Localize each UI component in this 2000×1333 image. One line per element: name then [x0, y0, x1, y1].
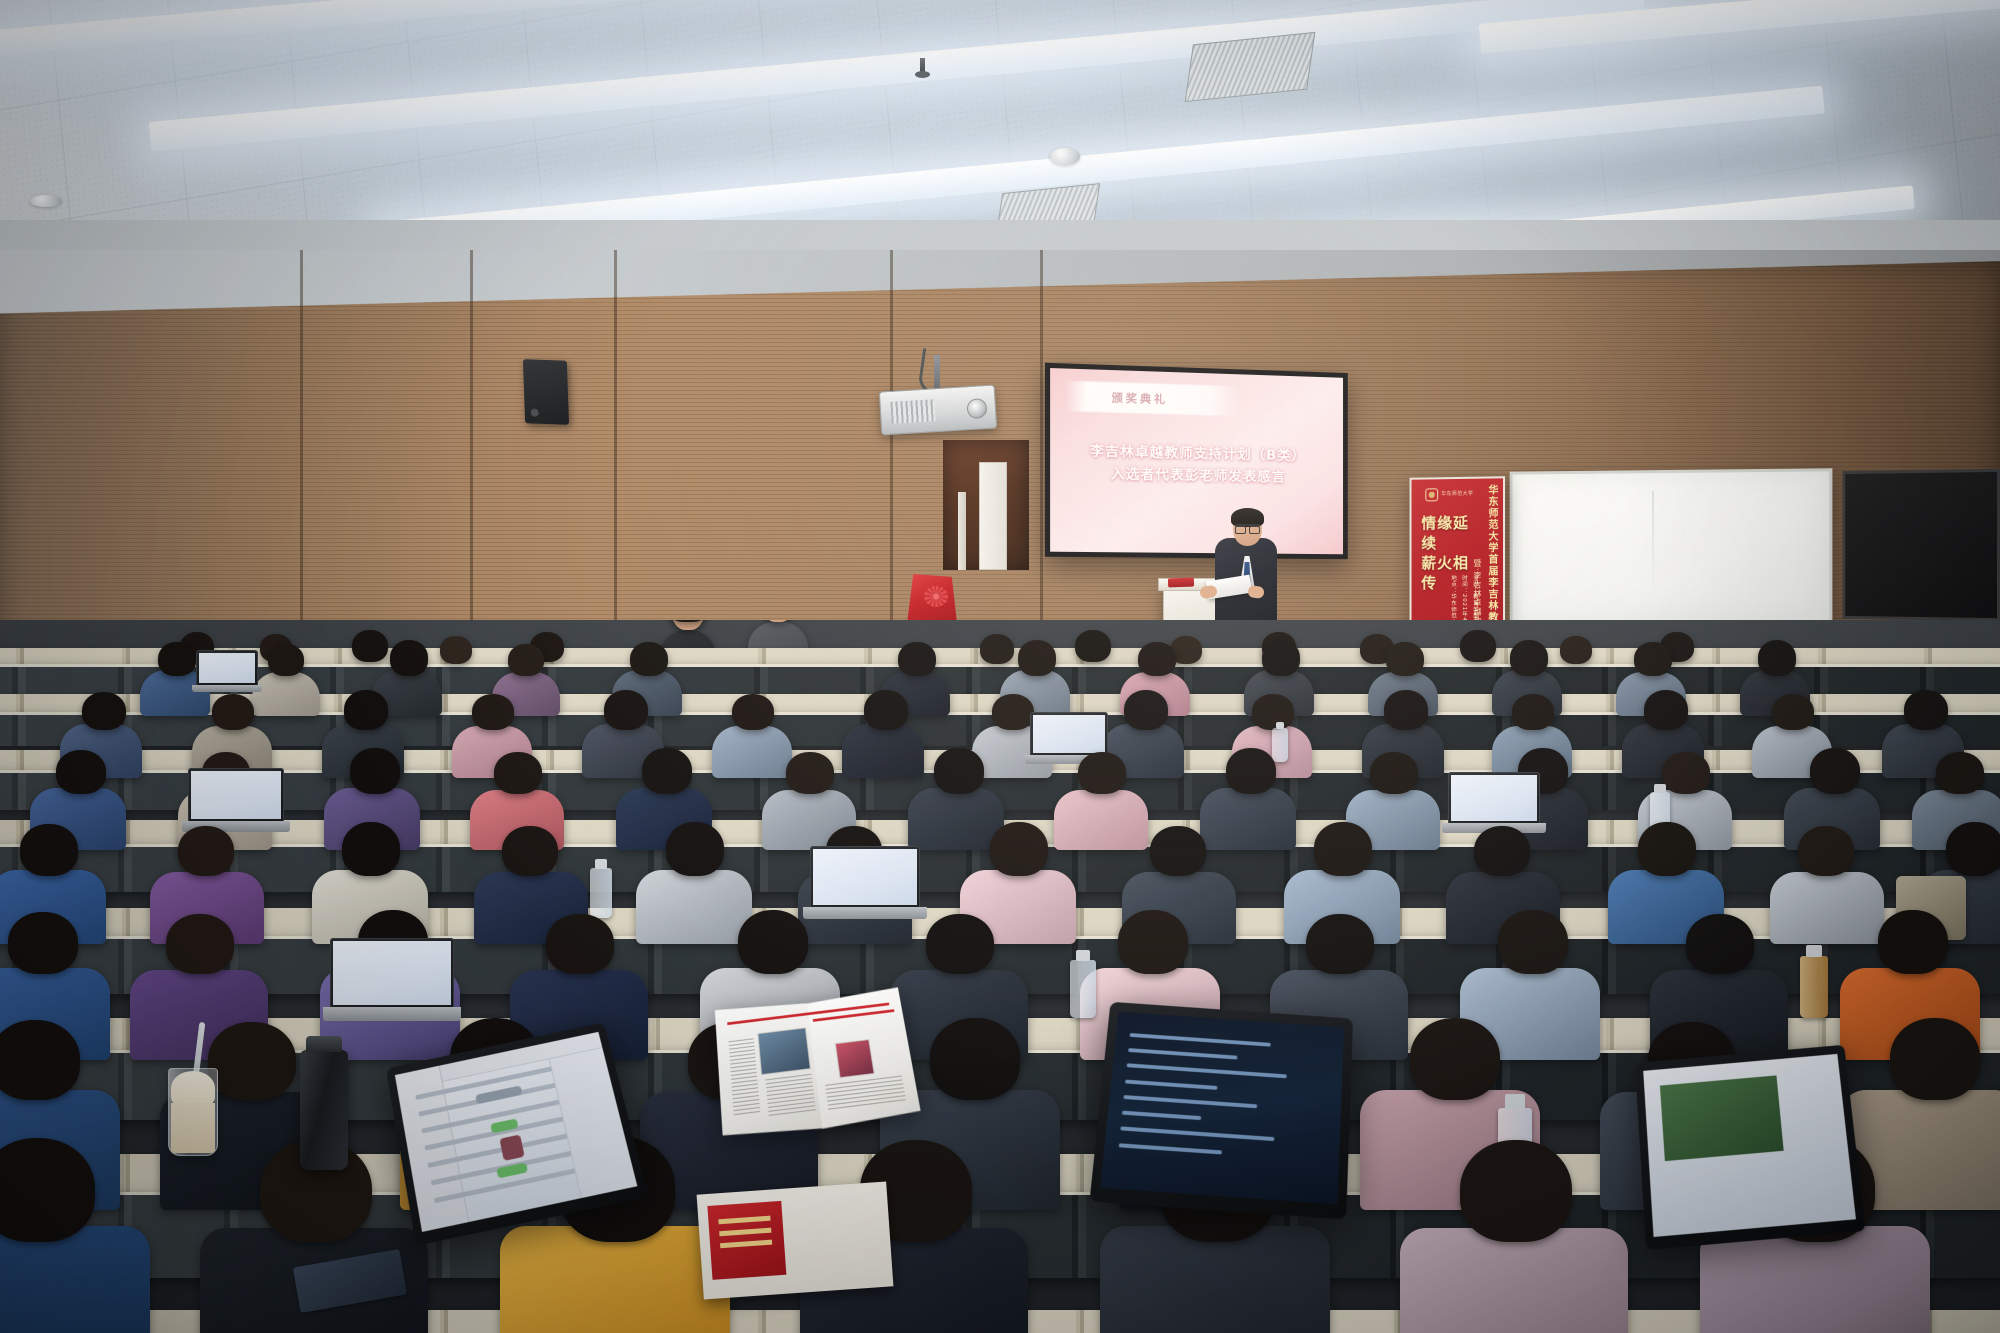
audience-torso: [842, 724, 924, 778]
audience-head: [1386, 642, 1424, 676]
audience-head: [926, 914, 994, 974]
audience-head: [1560, 636, 1592, 664]
lecture-hall-photo: 颁奖典礼 李吉林卓越教师支持计划（B类） 入选者代表彭老师发表感言 华东师范大学…: [0, 0, 2000, 1333]
tea-bottle: [1800, 956, 1828, 1018]
ceiling-downlight: [30, 195, 62, 207]
audience-head: [1638, 822, 1696, 876]
audience-torso: [0, 1226, 150, 1333]
audience-head: [1772, 694, 1814, 730]
red-covered-brochure: [697, 1182, 894, 1300]
booklet-photo: [758, 1027, 811, 1075]
audience-head: [1138, 642, 1176, 676]
slide-title: 李吉林卓越教师支持计划（B类） 入选者代表彭老师发表感言: [1050, 439, 1343, 489]
laptop-screen[interactable]: [1100, 1012, 1344, 1205]
audience-torso: [500, 1226, 730, 1333]
audience-head: [8, 912, 78, 974]
audience-head: [1460, 1140, 1572, 1242]
audience-head: [342, 822, 400, 876]
audience-head: [1634, 642, 1672, 676]
audience-head: [1644, 690, 1688, 730]
audience-head: [212, 694, 254, 730]
audience-head: [494, 752, 542, 794]
audience-head: [898, 642, 936, 676]
booklet-photo: [835, 1039, 875, 1078]
audience-torso: [1770, 872, 1884, 944]
laptop-screen[interactable]: [1643, 1054, 1856, 1237]
audience-head: [1410, 1018, 1500, 1100]
whiteboard: [1510, 468, 1833, 626]
audience-head: [1498, 910, 1568, 974]
audience-head: [208, 1022, 296, 1100]
audience-head: [158, 642, 196, 676]
audience-head: [344, 690, 388, 730]
projector-lens-icon: [966, 398, 987, 419]
audience-head: [1226, 748, 1276, 794]
audience-head: [20, 824, 78, 876]
audience-torso: [1054, 790, 1148, 850]
milk-tea-foam: [171, 1071, 215, 1105]
audience-head: [1384, 690, 1428, 730]
fire-sprinkler: [920, 58, 925, 74]
audience-torso: [712, 726, 792, 778]
audience-head: [1758, 640, 1796, 676]
audience-head: [1474, 826, 1530, 876]
audience-head: [930, 1018, 1020, 1100]
black-thermos-flask: [300, 1050, 348, 1170]
projector-mount: [934, 355, 940, 391]
door-frame-edge: [958, 492, 966, 570]
audience-torso: [908, 788, 1004, 850]
audience-head: [604, 690, 648, 730]
audience-head: [1890, 1018, 1980, 1100]
audience-head: [732, 694, 774, 730]
audience-head: [1510, 640, 1548, 676]
audience-head: [1936, 752, 1984, 794]
audience-head: [1662, 752, 1710, 794]
audience-head: [864, 690, 908, 730]
chat-header: [475, 1086, 522, 1105]
audience-torso: [1200, 788, 1296, 850]
wall-panel-seam: [1040, 250, 1043, 670]
wall-panel-seam: [614, 250, 617, 670]
wall-panel-seam: [890, 250, 893, 670]
projection-screen-surface: 颁奖典礼 李吉林卓越教师支持计划（B类） 入选者代表彭老师发表感言: [1050, 368, 1343, 554]
university-seal-icon: [1425, 488, 1438, 501]
audience-head: [1810, 748, 1860, 794]
ceiling-projector: [879, 385, 997, 436]
audience-head: [666, 822, 724, 876]
university-logo: 华东师范大学: [1425, 486, 1479, 503]
audience-torso: [636, 870, 752, 944]
audience-head: [1878, 910, 1948, 974]
side-entrance-door[interactable]: [979, 462, 1007, 570]
slide-section-label: 颁奖典礼: [1112, 389, 1168, 407]
wall-mounted-speaker: [523, 359, 569, 425]
audience-head: [934, 748, 984, 794]
audience-head: [178, 826, 234, 876]
milk-tea-liquid: [171, 1103, 215, 1153]
audience-head: [1370, 752, 1418, 794]
university-logo-name: 华东师范大学: [1441, 491, 1473, 497]
water-bottle: [1272, 728, 1288, 762]
brochure-cover: [707, 1201, 786, 1280]
audience-head: [1118, 910, 1188, 974]
laptop-photo-thumbnail: [1660, 1075, 1784, 1161]
audience-head: [1460, 630, 1496, 662]
audience-head: [990, 822, 1048, 876]
audience-head: [1124, 690, 1168, 730]
audience-head: [1314, 822, 1372, 876]
audience-laptop: [1448, 772, 1540, 824]
audience-head: [1150, 826, 1206, 876]
audience-head: [440, 636, 472, 664]
chat-image: [499, 1134, 525, 1161]
audience-laptop: [196, 650, 258, 686]
speaker-glasses-icon: [1235, 524, 1260, 530]
audience-head: [1904, 690, 1948, 730]
laptop-showing-photo[interactable]: [1635, 1045, 1866, 1250]
audience-head: [350, 748, 400, 794]
podium-red-folder: [1168, 578, 1194, 588]
audience-head: [1075, 630, 1111, 662]
event-program-booklet: [715, 990, 921, 1138]
audience-head: [1686, 914, 1754, 974]
booklet-body-text: [766, 1074, 816, 1116]
wall-display-panel: [1842, 469, 2000, 621]
audience-head: [630, 642, 668, 676]
audience-head: [0, 1020, 80, 1100]
audience-head: [390, 640, 428, 676]
audience-head: [56, 750, 106, 794]
audience-head: [980, 634, 1014, 664]
laptop-dark-screen[interactable]: [1089, 1002, 1353, 1220]
audience-head: [0, 1138, 95, 1242]
projection-screen: 颁奖典礼 李吉林卓越教师支持计划（B类） 入选者代表彭老师发表感言: [1045, 363, 1348, 559]
water-bottle: [1070, 960, 1096, 1018]
audience-head: [1512, 694, 1554, 730]
audience-head: [1946, 822, 2000, 876]
audience-head: [786, 752, 834, 794]
audience-head: [546, 914, 614, 974]
projector-vent: [890, 399, 935, 424]
audience-head: [1018, 640, 1056, 676]
audience-head: [1306, 914, 1374, 974]
chat-bubble: [497, 1162, 529, 1178]
audience-head: [738, 910, 808, 974]
audience-head: [472, 694, 514, 730]
wall-panel-seam: [300, 250, 303, 670]
banner-headline-line-1: 情缘延续: [1421, 513, 1479, 553]
audience-torso: [252, 672, 320, 716]
audience-head: [642, 748, 692, 794]
audience-laptop: [188, 768, 284, 822]
audience-torso: [1100, 1226, 1330, 1333]
audience-head: [502, 826, 558, 876]
audience-torso: [1400, 1228, 1628, 1333]
water-bottle: [590, 868, 612, 918]
audience-head: [82, 692, 126, 730]
audience-head: [1078, 752, 1126, 794]
audience-laptop: [1030, 712, 1108, 756]
audience-laptop: [810, 846, 920, 908]
smoke-detector: [1050, 148, 1080, 165]
audience-head: [992, 694, 1034, 730]
wall-panel-seam: [470, 250, 473, 670]
audience-head: [508, 644, 544, 676]
audience-laptop: [330, 938, 454, 1008]
audience-head: [1798, 826, 1854, 876]
audience-head: [1262, 640, 1300, 676]
audience-head: [166, 914, 234, 974]
audience-head: [1252, 694, 1294, 730]
milk-tea-cup: [168, 1068, 218, 1156]
audience-head: [268, 644, 304, 676]
audience-head: [352, 630, 388, 662]
standing-staff-face: [762, 620, 794, 622]
